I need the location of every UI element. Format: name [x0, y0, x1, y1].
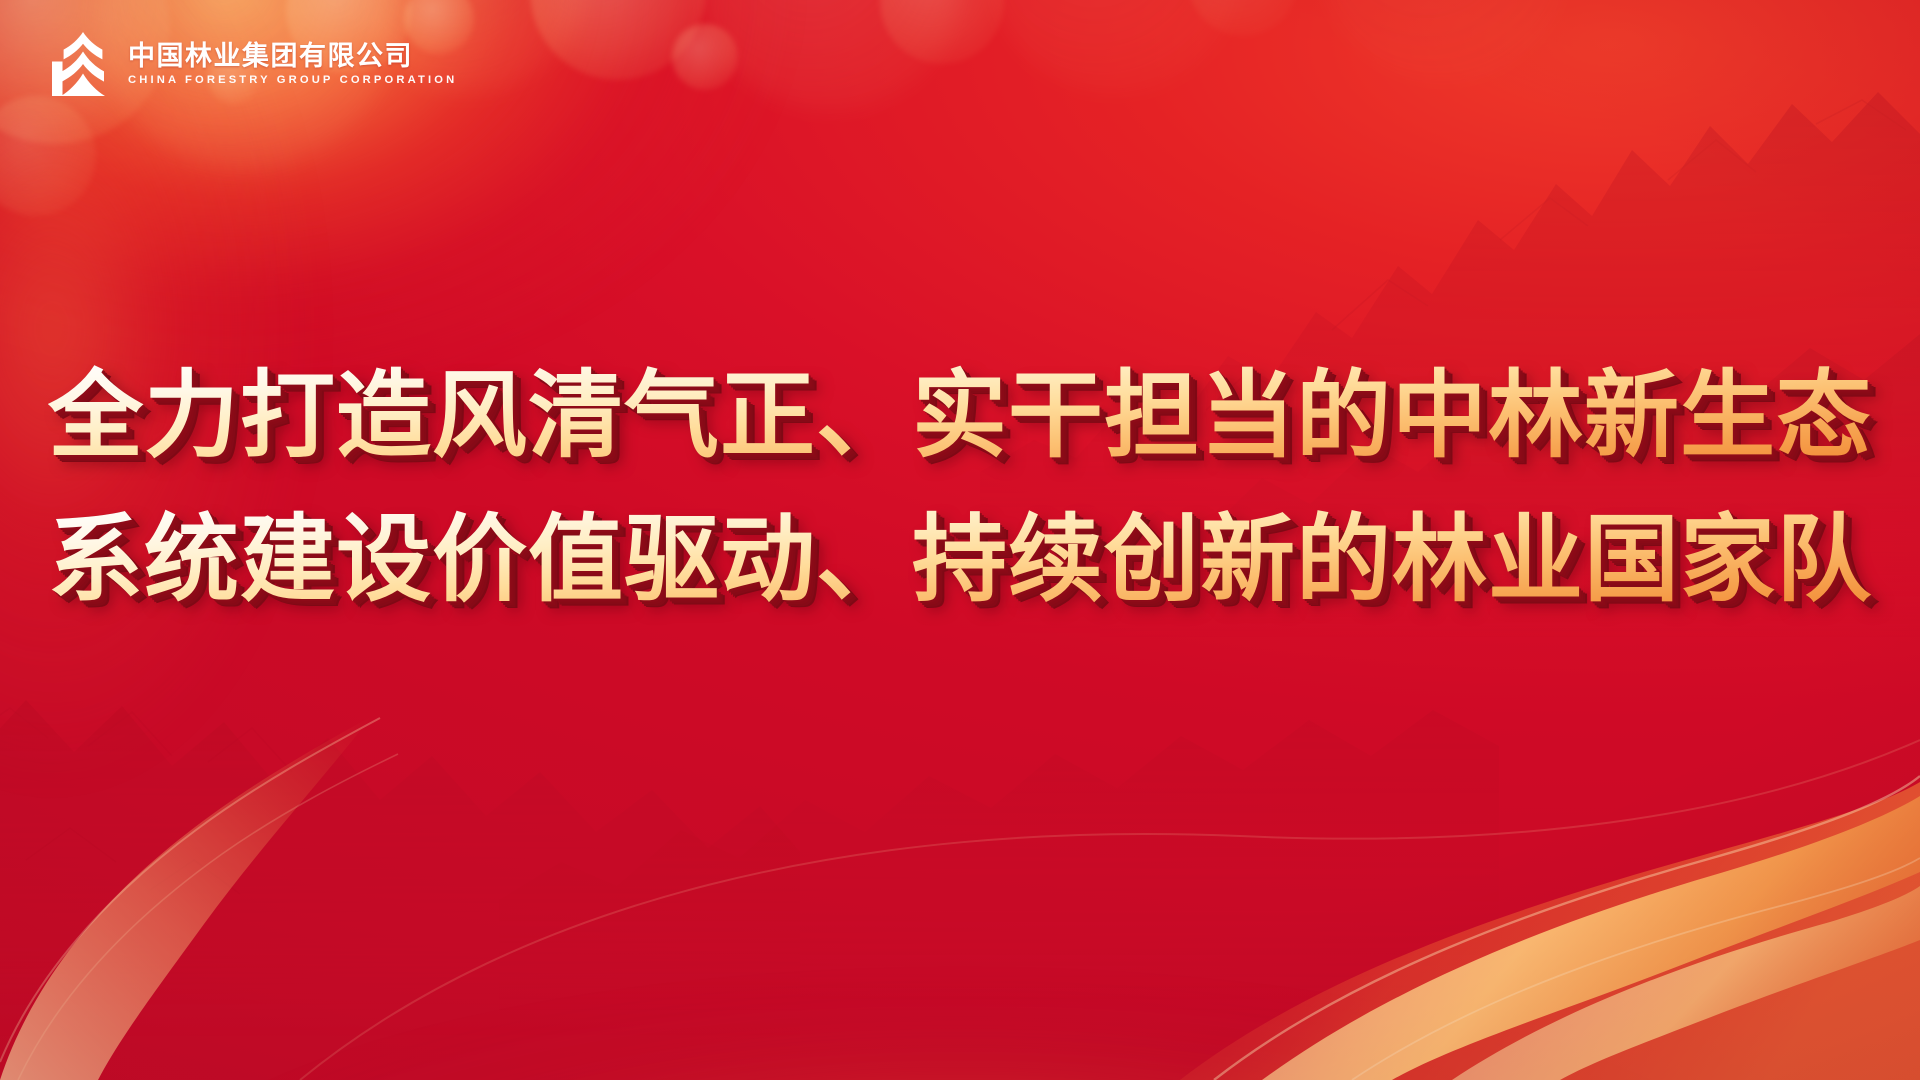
brand-name-en: CHINA FORESTRY GROUP CORPORATION [128, 74, 457, 86]
cfgc-tree-mountain-logo-icon [52, 32, 114, 96]
headline-line-1: 全力打造风清气正、实干担当的中林新生态 全力打造风清气正、实干担当的中林新生态 [48, 344, 1872, 488]
headline-line-2: 系统建设价值驱动、持续创新的林业国家队 系统建设价值驱动、持续创新的林业国家队 [48, 488, 1872, 632]
brand-wordmark: 中国林业集团有限公司 CHINA FORESTRY GROUP CORPORAT… [128, 42, 457, 86]
brand-name-cn: 中国林业集团有限公司 [128, 42, 457, 71]
headline-line-2-text: 系统建设价值驱动、持续创新的林业国家队 [48, 505, 1872, 615]
brand-logo-lockup[interactable]: 中国林业集团有限公司 CHINA FORESTRY GROUP CORPORAT… [52, 32, 457, 96]
headline-line-1-text: 全力打造风清气正、实干担当的中林新生态 [48, 361, 1872, 471]
promotional-banner: 中国林业集团有限公司 CHINA FORESTRY GROUP CORPORAT… [0, 0, 1920, 1080]
headline-block: 全力打造风清气正、实干担当的中林新生态 全力打造风清气正、实干担当的中林新生态 … [0, 344, 1920, 633]
